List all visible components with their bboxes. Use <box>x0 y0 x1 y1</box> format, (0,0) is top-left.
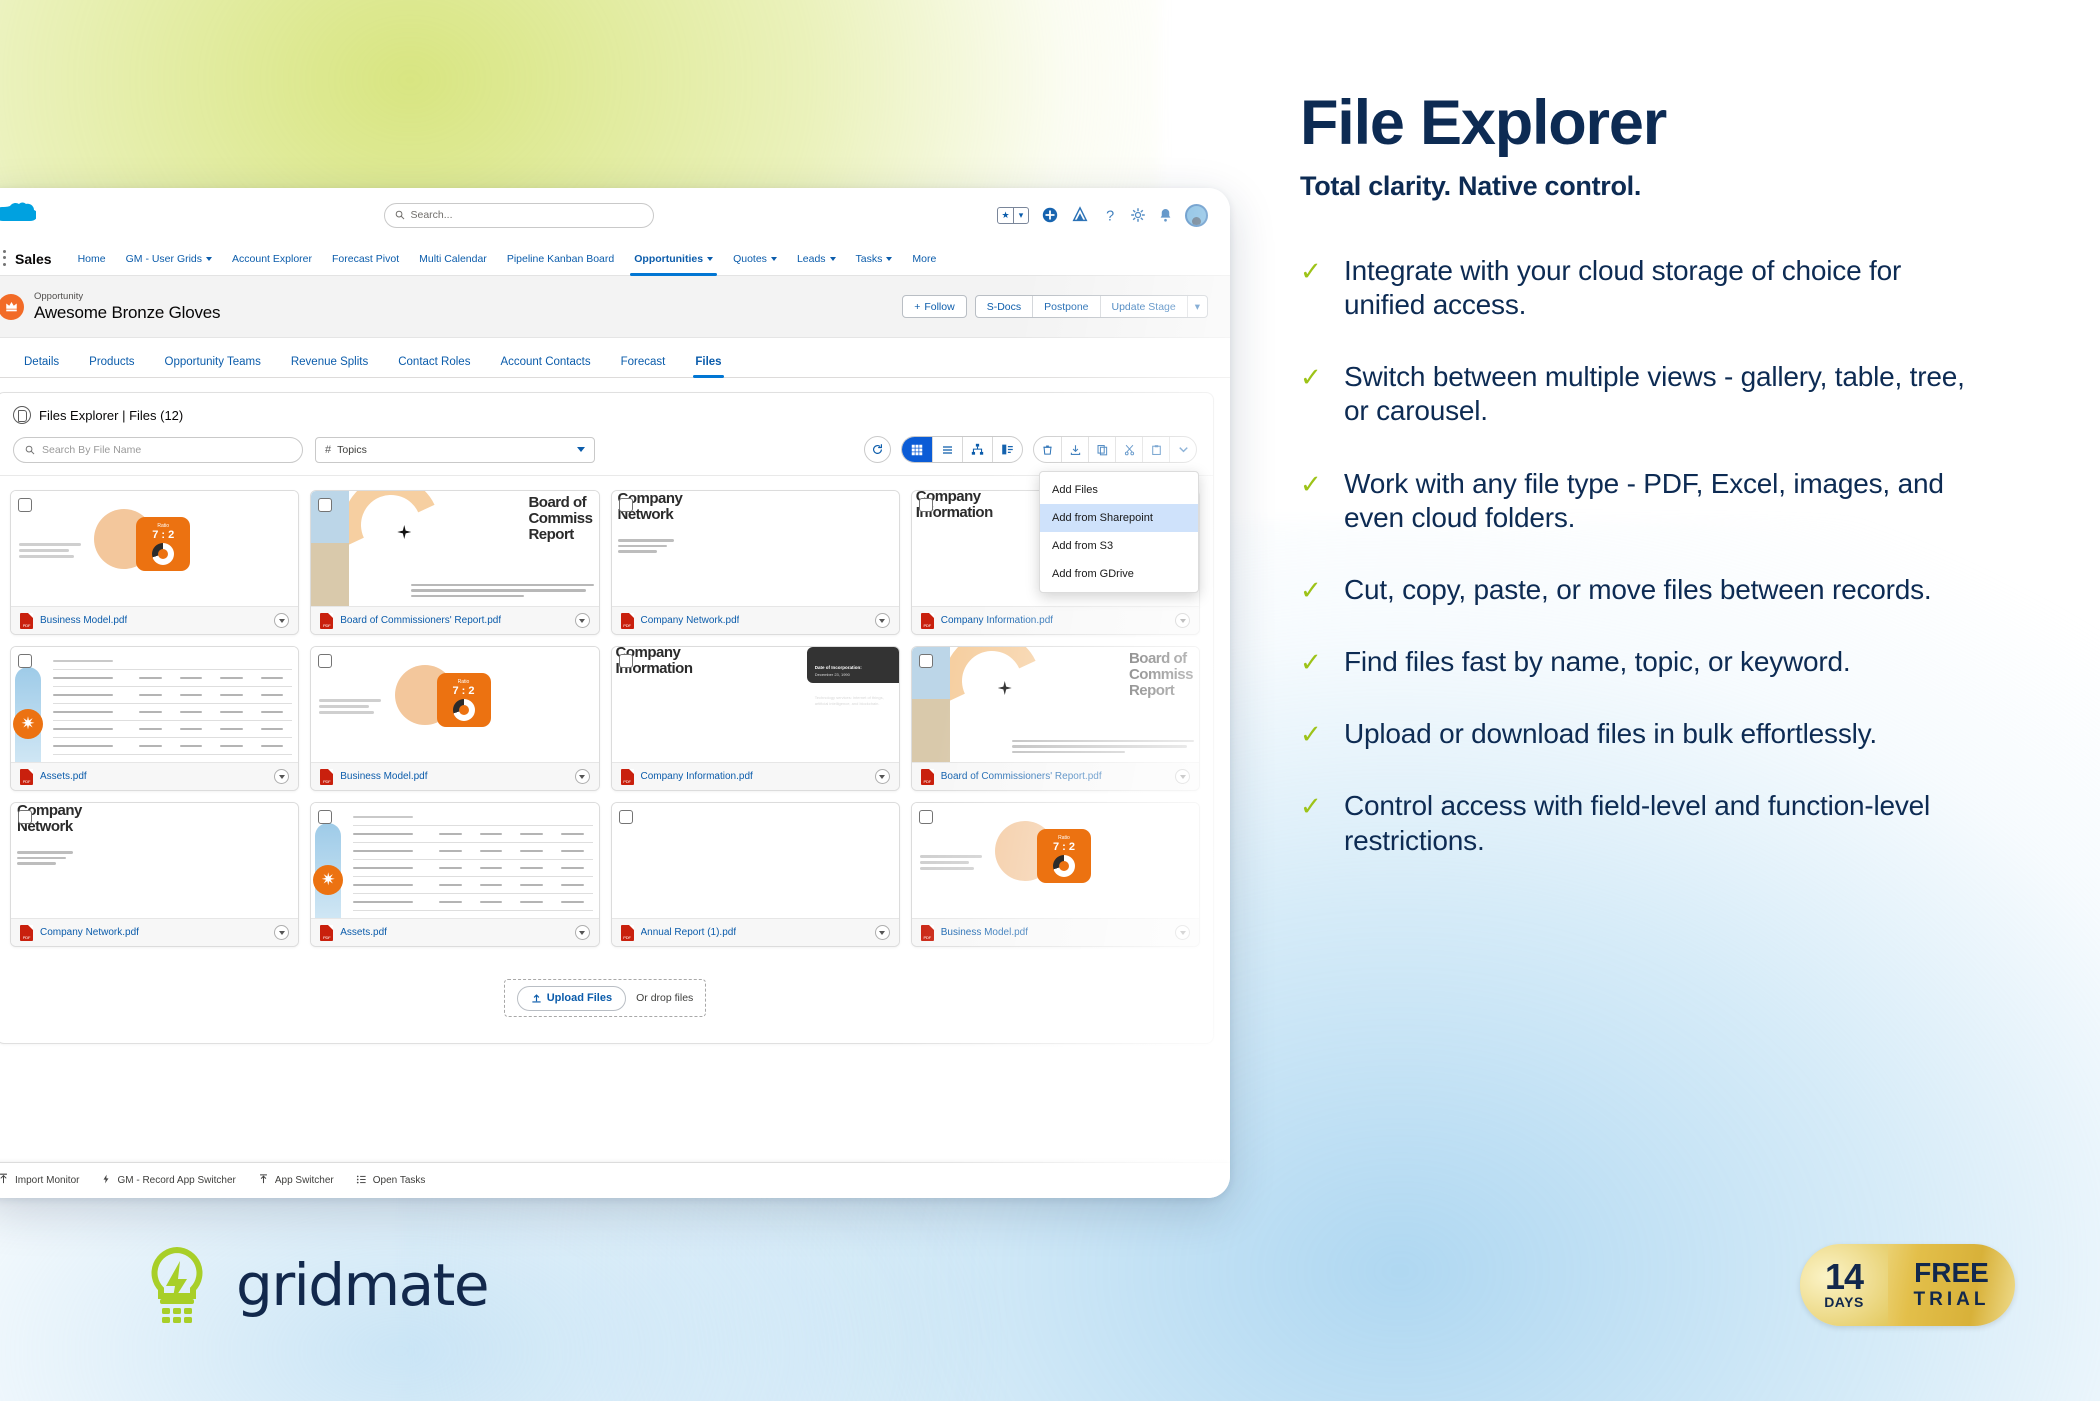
record-header: Opportunity Awesome Bronze Gloves + Foll… <box>0 276 1230 338</box>
bell-icon[interactable] <box>1158 207 1173 223</box>
file-checkbox[interactable] <box>18 654 32 668</box>
panel-title: File Explorer <box>1300 92 2050 155</box>
file-thumbnail[interactable]: Ratio7 : 280604020 <box>912 803 1199 918</box>
record-tabs: DetailsProductsOpportunity TeamsRevenue … <box>0 338 1230 378</box>
file-card[interactable]: CompanyNetworkPDFCompany Network.pdf <box>10 802 299 947</box>
file-meta: PDFCompany Information.pdf <box>612 762 899 790</box>
feature-bullet: ✓Cut, copy, paste, or move files between… <box>1300 573 2050 607</box>
file-name[interactable]: Assets.pdf <box>340 927 387 938</box>
global-header: Search... ★ ▾ ? <box>0 188 1230 242</box>
tab-products[interactable]: Products <box>75 356 148 377</box>
upload-files-button[interactable]: Upload Files <box>517 986 626 1011</box>
file-thumbnail[interactable]: Ratio7 : 280604020 <box>311 647 598 762</box>
file-card[interactable]: Ratio7 : 280604020PDFBusiness Model.pdf <box>310 646 599 791</box>
avatar[interactable] <box>1185 204 1208 227</box>
nav-item-label: GM - User Grids <box>126 253 202 265</box>
file-meta: PDFAnnual Report (1).pdf <box>612 918 899 946</box>
tab-details[interactable]: Details <box>10 356 73 377</box>
utility-item-label: GM - Record App Switcher <box>117 1175 235 1186</box>
nav-item-label: Account Explorer <box>232 253 312 265</box>
check-icon: ✓ <box>1300 793 1326 819</box>
file-thumbnail[interactable]: CompanyInformationDate of Incorporation:… <box>612 647 899 762</box>
nav-item-opportunities[interactable]: Opportunities <box>624 242 723 276</box>
file-name[interactable]: Business Model.pdf <box>40 615 127 626</box>
pdf-icon: PDF <box>621 925 634 941</box>
pdf-icon: PDF <box>20 925 33 941</box>
search-placeholder: Search By File Name <box>42 444 141 456</box>
file-card[interactable]: Board ofCommissReportPDFBoard of Commiss… <box>911 646 1200 791</box>
feature-bullet-text: Upload or download files in bulk effortl… <box>1344 717 1877 751</box>
file-name[interactable]: Annual Report (1).pdf <box>641 927 737 938</box>
file-checkbox[interactable] <box>318 498 332 512</box>
pdf-icon: PDF <box>320 769 333 785</box>
file-actions-chevron-down-icon[interactable] <box>274 925 289 940</box>
nav-item-label: Tasks <box>856 253 883 265</box>
file-meta: PDFBusiness Model.pdf <box>11 606 298 634</box>
tab-account-contacts[interactable]: Account Contacts <box>486 356 604 377</box>
file-actions-chevron-down-icon[interactable] <box>1175 925 1190 940</box>
trial-trial-label: TRIAL <box>1914 1289 1990 1311</box>
carousel-view-button[interactable] <box>992 437 1022 462</box>
record-actions: + Follow S-Docs Postpone Update Stage ▾ <box>902 295 1208 318</box>
file-actions-chevron-down-icon[interactable] <box>875 769 890 784</box>
tent-icon[interactable] <box>1071 206 1089 224</box>
file-actions-chevron-down-icon[interactable] <box>875 613 890 628</box>
file-meta: PDFBoard of Commissioners' Report.pdf <box>912 762 1199 790</box>
trial-free-label: FREE <box>1914 1259 1989 1287</box>
upload-area: Upload Files Or drop files <box>0 957 1213 1043</box>
file-checkbox[interactable] <box>318 810 332 824</box>
file-meta: PDFBoard of Commissioners' Report.pdf <box>311 606 598 634</box>
upload-files-label: Upload Files <box>547 992 612 1004</box>
file-actions-chevron-down-icon[interactable] <box>1175 769 1190 784</box>
file-meta: PDFCompany Network.pdf <box>612 606 899 634</box>
file-meta: PDFBusiness Model.pdf <box>311 762 598 790</box>
file-actions-chevron-down-icon[interactable] <box>274 613 289 628</box>
upload-icon <box>531 993 542 1004</box>
search-icon <box>25 445 35 455</box>
file-checkbox[interactable] <box>318 654 332 668</box>
utility-item-import-monitor[interactable]: Import Monitor <box>0 1173 79 1188</box>
tab-revenue-splits[interactable]: Revenue Splits <box>277 356 382 377</box>
opportunity-crown-icon <box>0 294 24 320</box>
tab-contact-roles[interactable]: Contact Roles <box>384 356 484 377</box>
utility-item-label: Open Tasks <box>373 1175 426 1186</box>
nav-item-multi-calendar[interactable]: Multi Calendar <box>409 242 497 276</box>
file-checkbox[interactable] <box>619 810 633 824</box>
lightbulb-icon <box>140 1244 214 1326</box>
trial-days-block: 14 DAYS <box>1800 1244 1888 1326</box>
feature-bullet: ✓Control access with field-level and fun… <box>1300 789 2050 857</box>
file-meta: PDFAssets.pdf <box>11 762 298 790</box>
file-meta: PDFCompany Network.pdf <box>11 918 298 946</box>
file-name[interactable]: Company Network.pdf <box>40 927 139 938</box>
chevron-down-icon <box>707 257 713 261</box>
file-name[interactable]: Business Model.pdf <box>941 927 1028 938</box>
more-actions-chevron-down-icon[interactable]: ▾ <box>1187 296 1207 317</box>
app-navigation-bar: Sales HomeGM - User GridsAccount Explore… <box>0 242 1230 276</box>
file-actions-chevron-down-icon[interactable] <box>1175 613 1190 628</box>
file-checkbox[interactable] <box>919 810 933 824</box>
nav-item-pipeline-kanban-board[interactable]: Pipeline Kanban Board <box>497 242 624 276</box>
file-checkbox[interactable] <box>619 654 633 668</box>
gear-icon[interactable] <box>1130 207 1146 223</box>
file-meta: PDFCompany Information.pdf <box>912 606 1199 634</box>
view-mode-switcher <box>901 436 1023 463</box>
svg-text:?: ? <box>1106 208 1114 223</box>
feature-bullet-text: Switch between multiple views - gallery,… <box>1344 360 1984 428</box>
list-icon <box>356 1174 367 1188</box>
file-name[interactable]: Board of Commissioners' Report.pdf <box>340 615 501 626</box>
add-files-dropdown-menu: Add FilesAdd from SharepointAdd from S3A… <box>1039 471 1199 593</box>
trial-days-number: 14 <box>1825 1260 1863 1293</box>
files-explorer-title: Files Explorer | Files (12) <box>39 408 183 423</box>
nav-item-label: More <box>912 253 936 265</box>
nav-item-label: Leads <box>797 253 826 265</box>
file-card[interactable]: Ratio7 : 280604020PDFBusiness Model.pdf <box>10 490 299 635</box>
file-actions-group <box>1033 436 1197 463</box>
paste-icon[interactable] <box>1142 437 1169 462</box>
file-meta: PDFAssets.pdf <box>311 918 598 946</box>
feature-bullet: ✓Integrate with your cloud storage of ch… <box>1300 254 2050 322</box>
app-launcher-icon[interactable] <box>0 250 7 267</box>
drop-files-label: Or drop files <box>636 992 693 1004</box>
nav-item-more[interactable]: More <box>902 242 946 276</box>
file-thumbnail[interactable]: AnnualReport <box>612 803 899 918</box>
download-icon[interactable] <box>1061 437 1088 462</box>
file-grid-wrapper: Ratio7 : 280604020PDFBusiness Model.pdfB… <box>0 475 1213 957</box>
nav-item-label: Forecast Pivot <box>332 253 399 265</box>
pdf-icon: PDF <box>921 769 934 785</box>
chevron-down-icon <box>206 257 212 261</box>
feature-bullet: ✓Upload or download files in bulk effort… <box>1300 717 2050 751</box>
nav-item-home[interactable]: Home <box>68 242 116 276</box>
star-icon: ★ <box>998 208 1013 223</box>
feature-bullet-list: ✓Integrate with your cloud storage of ch… <box>1300 254 2050 858</box>
file-name[interactable]: Company Network.pdf <box>641 615 740 626</box>
thumb-commissioners-report: Board ofCommissReport <box>912 647 1199 762</box>
pdf-icon: PDF <box>20 613 33 629</box>
file-thumbnail[interactable]: CompanyNetwork <box>612 491 899 606</box>
topics-label: Topics <box>337 444 367 456</box>
nav-items: HomeGM - User GridsAccount ExplorerForec… <box>68 242 947 276</box>
chevron-down-icon[interactable] <box>1169 437 1196 462</box>
file-name[interactable]: Company Information.pdf <box>941 615 1053 626</box>
follow-button[interactable]: + Follow <box>902 295 966 318</box>
utility-bar: Import MonitorGM - Record App SwitcherAp… <box>0 1162 1230 1198</box>
feature-bullet: ✓Work with any file type - PDF, Excel, i… <box>1300 467 2050 535</box>
record-title-block: Opportunity Awesome Bronze Gloves <box>34 291 220 323</box>
global-actions: ★ ▾ ? <box>997 204 1208 227</box>
file-thumbnail[interactable]: Board ofCommissReport <box>311 491 598 606</box>
feature-bullet-text: Integrate with your cloud storage of cho… <box>1344 254 1984 322</box>
file-card[interactable]: ✷PDFAssets.pdf <box>10 646 299 791</box>
file-checkbox[interactable] <box>18 810 32 824</box>
list-view-button[interactable] <box>932 437 962 462</box>
files-explorer-card: Files Explorer | Files (12) Search By Fi… <box>0 392 1214 1044</box>
pdf-icon: PDF <box>921 925 934 941</box>
grid-view-button[interactable] <box>902 437 932 462</box>
plus-icon: + <box>914 301 920 313</box>
pdf-icon: PDF <box>20 769 33 785</box>
free-trial-badge[interactable]: 14 DAYS FREE TRIAL <box>1800 1244 2015 1326</box>
check-icon: ✓ <box>1300 364 1326 390</box>
lightning-icon <box>101 1173 111 1188</box>
feature-bullet-text: Work with any file type - PDF, Excel, im… <box>1344 467 1984 535</box>
file-actions-chevron-down-icon[interactable] <box>575 613 590 628</box>
follow-label: Follow <box>924 301 954 313</box>
nav-item-account-explorer[interactable]: Account Explorer <box>222 242 322 276</box>
pin-icon <box>258 1173 269 1188</box>
utility-item-label: App Switcher <box>275 1175 334 1186</box>
file-actions-chevron-down-icon[interactable] <box>274 769 289 784</box>
file-grid: Ratio7 : 280604020PDFBusiness Model.pdfB… <box>10 490 1200 947</box>
menu-item-add-from-s3[interactable]: Add from S3 <box>1040 532 1198 560</box>
favorites-button[interactable]: ★ ▾ <box>997 207 1029 224</box>
utility-item-open-tasks[interactable]: Open Tasks <box>356 1174 426 1188</box>
tree-view-button[interactable] <box>962 437 992 462</box>
tab-forecast[interactable]: Forecast <box>607 356 680 377</box>
file-thumbnail[interactable]: ✷ <box>311 803 598 918</box>
panel-subtitle: Total clarity. Native control. <box>1300 171 2050 202</box>
thumb-business-model: Ratio7 : 280604020 <box>912 803 1199 918</box>
global-search-wrapper: Search... <box>40 203 997 228</box>
record-action-button-group: S-Docs Postpone Update Stage ▾ <box>975 295 1208 318</box>
nav-item-quotes[interactable]: Quotes <box>723 242 787 276</box>
pdf-icon: PDF <box>621 769 634 785</box>
postpone-button[interactable]: Postpone <box>1032 296 1099 317</box>
chevron-down-icon <box>771 257 777 261</box>
topics-select[interactable]: # Topics <box>315 437 595 463</box>
utility-item-app-switcher[interactable]: App Switcher <box>258 1173 334 1188</box>
check-icon: ✓ <box>1300 721 1326 747</box>
nav-item-label: Home <box>78 253 106 265</box>
feature-bullet-text: Cut, copy, paste, or move files between … <box>1344 573 1932 607</box>
file-card[interactable]: CompanyInformationDate of Incorporation:… <box>611 646 900 791</box>
nav-item-forecast-pivot[interactable]: Forecast Pivot <box>322 242 409 276</box>
salesforce-cloud-logo[interactable] <box>0 198 40 232</box>
sdocs-button[interactable]: S-Docs <box>976 296 1032 317</box>
file-thumbnail[interactable]: ✷ <box>11 647 298 762</box>
file-checkbox[interactable] <box>18 498 32 512</box>
utility-item-label: Import Monitor <box>15 1175 79 1186</box>
utility-item-gm-record-app-switcher[interactable]: GM - Record App Switcher <box>101 1173 235 1188</box>
search-input[interactable]: Search By File Name <box>13 437 303 463</box>
file-actions-chevron-down-icon[interactable] <box>575 769 590 784</box>
file-name[interactable]: Company Information.pdf <box>641 771 753 782</box>
feature-bullet: ✓Switch between multiple views - gallery… <box>1300 360 2050 428</box>
refresh-button[interactable] <box>864 436 891 463</box>
file-name[interactable]: Assets.pdf <box>40 771 87 782</box>
global-search-input[interactable]: Search... <box>384 203 654 228</box>
file-card[interactable]: Ratio7 : 280604020PDFBusiness Model.pdf <box>911 802 1200 947</box>
file-card[interactable]: CompanyNetworkPDFCompany Network.pdf <box>611 490 900 635</box>
nav-item-leads[interactable]: Leads <box>787 242 846 276</box>
file-checkbox[interactable] <box>919 498 933 512</box>
thumb-assets: ✷ <box>311 803 598 911</box>
thumb-business-model: Ratio7 : 280604020 <box>11 491 298 606</box>
page-title: Awesome Bronze Gloves <box>34 303 220 323</box>
menu-item-add-files[interactable]: Add Files <box>1040 476 1198 504</box>
menu-item-add-from-gdrive[interactable]: Add from GDrive <box>1040 560 1198 588</box>
file-checkbox[interactable] <box>619 498 633 512</box>
files-explorer-toolbar: Search By File Name # Topics <box>0 428 1213 475</box>
pdf-icon: PDF <box>320 613 333 629</box>
pdf-icon: PDF <box>921 613 934 629</box>
menu-item-add-from-sharepoint[interactable]: Add from Sharepoint <box>1040 504 1198 532</box>
check-icon: ✓ <box>1300 649 1326 675</box>
global-search-placeholder: Search... <box>411 209 453 221</box>
nav-item-label: Multi Calendar <box>419 253 487 265</box>
chevron-down-icon <box>886 257 892 261</box>
chevron-down-icon: ▾ <box>1013 208 1028 223</box>
file-thumbnail[interactable]: Board ofCommissReport <box>912 647 1199 762</box>
chevron-down-icon <box>830 257 836 261</box>
copy-icon[interactable] <box>1088 437 1115 462</box>
thumb-assets: ✷ <box>11 647 298 755</box>
add-icon[interactable] <box>1041 206 1059 224</box>
salesforce-window: Search... ★ ▾ ? <box>0 188 1230 1198</box>
arrow-up-icon <box>0 1173 9 1188</box>
nav-item-label: Opportunities <box>634 253 703 265</box>
trial-text-block: FREE TRIAL <box>1888 1259 2015 1311</box>
tab-files[interactable]: Files <box>681 356 735 377</box>
file-meta: PDFBusiness Model.pdf <box>912 918 1199 946</box>
feature-bullet-text: Control access with field-level and func… <box>1344 789 1984 857</box>
chevron-down-icon <box>577 447 585 452</box>
delete-icon[interactable] <box>1034 437 1061 462</box>
pdf-icon: PDF <box>320 925 333 941</box>
feature-bullet: ✓Find files fast by name, topic, or keyw… <box>1300 645 2050 679</box>
file-card[interactable]: ✷PDFAssets.pdf <box>310 802 599 947</box>
files-explorer-outer: Files Explorer | Files (12) Search By Fi… <box>0 378 1230 1044</box>
file-actions-chevron-down-icon[interactable] <box>575 925 590 940</box>
file-actions-chevron-down-icon[interactable] <box>875 925 890 940</box>
toolbar-right <box>864 436 1197 463</box>
file-name[interactable]: Business Model.pdf <box>340 771 427 782</box>
app-name: Sales <box>15 251 52 267</box>
file-thumbnail[interactable]: CompanyNetwork <box>11 803 298 918</box>
record-type-label: Opportunity <box>34 291 220 302</box>
check-icon: ✓ <box>1300 471 1326 497</box>
feature-bullet-text: Find files fast by name, topic, or keywo… <box>1344 645 1851 679</box>
file-thumbnail[interactable]: Ratio7 : 280604020 <box>11 491 298 606</box>
search-icon <box>395 210 405 220</box>
nav-item-label: Pipeline Kanban Board <box>507 253 614 265</box>
file-card[interactable]: Board ofCommissReportPDFBoard of Commiss… <box>310 490 599 635</box>
pdf-icon: PDF <box>621 613 634 629</box>
thumb-business-model: Ratio7 : 280604020 <box>311 647 598 762</box>
gridmate-logo: gridmate <box>140 1244 488 1326</box>
trial-days-label: DAYS <box>1824 1294 1864 1310</box>
files-explorer-header: Files Explorer | Files (12) <box>0 393 1213 428</box>
check-icon: ✓ <box>1300 577 1326 603</box>
brand-name: gridmate <box>236 1251 488 1319</box>
thumb-commissioners-report: Board ofCommissReport <box>311 491 598 606</box>
file-card[interactable]: AnnualReportPDFAnnual Report (1).pdf <box>611 802 900 947</box>
nav-item-gm-user-grids[interactable]: GM - User Grids <box>116 242 222 276</box>
file-checkbox[interactable] <box>919 654 933 668</box>
help-icon[interactable]: ? <box>1101 207 1118 224</box>
marketing-panel: File Explorer Total clarity. Native cont… <box>1300 0 2100 1401</box>
nav-item-label: Quotes <box>733 253 767 265</box>
cut-icon[interactable] <box>1115 437 1142 462</box>
files-explorer-icon <box>13 406 31 424</box>
check-icon: ✓ <box>1300 258 1326 284</box>
update-stage-button[interactable]: Update Stage <box>1100 296 1187 317</box>
tab-opportunity-teams[interactable]: Opportunity Teams <box>151 356 275 377</box>
file-name[interactable]: Board of Commissioners' Report.pdf <box>941 771 1102 782</box>
dropzone[interactable]: Upload Files Or drop files <box>504 979 707 1017</box>
nav-item-tasks[interactable]: Tasks <box>846 242 903 276</box>
hash-icon: # <box>325 444 331 456</box>
